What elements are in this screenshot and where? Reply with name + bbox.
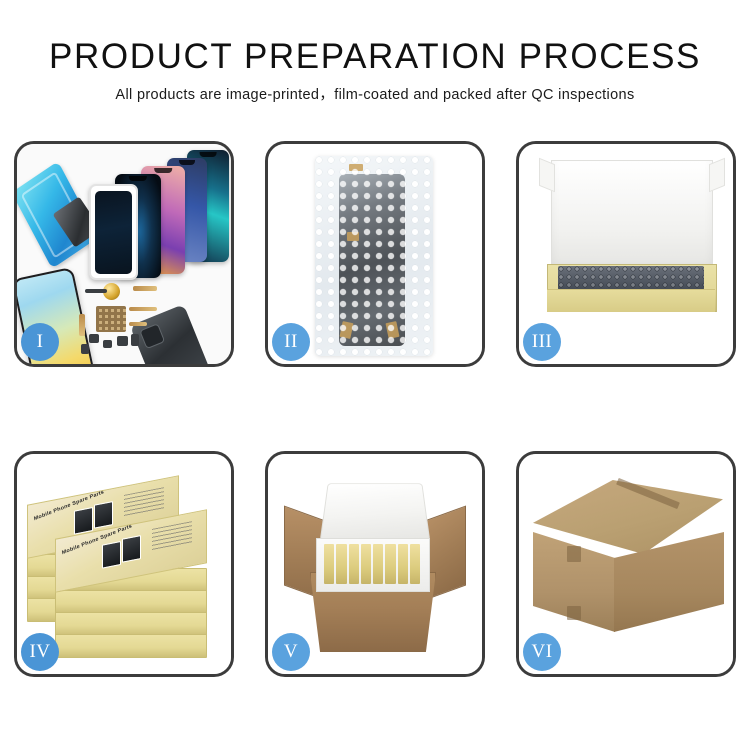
step-badge-3: III xyxy=(523,323,561,361)
step-panel-5[interactable]: V xyxy=(265,451,485,677)
yellow-boxes-group xyxy=(324,544,420,584)
process-steps-grid: I II III xyxy=(14,141,736,677)
box-lid-white xyxy=(551,160,713,274)
chip-part xyxy=(117,336,128,346)
screen-protector-glass xyxy=(89,184,138,280)
step-panel-6[interactable]: VI xyxy=(516,451,736,677)
notch-icon xyxy=(200,152,217,157)
styrofoam-lid xyxy=(320,483,431,541)
carton-tape-mark xyxy=(567,546,581,562)
foam-packing-dark xyxy=(558,266,704,290)
box-thumbnail xyxy=(102,541,121,569)
step-badge-4: IV xyxy=(21,633,59,671)
box-spec-lines xyxy=(152,521,192,551)
step-badge-6: VI xyxy=(523,633,561,671)
chip-part xyxy=(81,344,89,354)
yellow-box xyxy=(324,544,334,584)
notch-icon xyxy=(129,176,147,181)
stacked-box xyxy=(55,634,207,658)
stacked-box xyxy=(55,612,207,636)
tape-strip xyxy=(349,164,363,171)
page-title: PRODUCT PREPARATION PROCESS xyxy=(0,36,750,78)
box-spec-lines xyxy=(124,487,164,517)
flex-cable-part xyxy=(129,322,147,326)
step-badge-1: I xyxy=(21,323,59,361)
box-tray-front-wall xyxy=(547,289,715,312)
step-panel-3[interactable]: III xyxy=(516,141,736,367)
stacked-box xyxy=(55,590,207,614)
step-badge-5: V xyxy=(272,633,310,671)
chip-part xyxy=(103,340,112,348)
flex-cable-part xyxy=(129,307,157,311)
notch-icon xyxy=(179,160,195,165)
box-thumbnail xyxy=(74,507,93,535)
yellow-box xyxy=(385,544,395,584)
yellow-box xyxy=(336,544,346,584)
box-thumbnail xyxy=(122,535,141,563)
step-badge-2: II xyxy=(272,323,310,361)
phone-back-housing xyxy=(130,304,214,364)
box-thumbnail xyxy=(94,501,113,529)
bubble-wrap-bag xyxy=(315,156,433,356)
yellow-box xyxy=(361,544,371,584)
screws-tray-part xyxy=(96,306,126,332)
carton-tape-mark xyxy=(567,606,581,620)
yellow-box xyxy=(349,544,359,584)
tape-strip xyxy=(347,232,359,241)
page-subtitle: All products are image-printed，film-coat… xyxy=(0,85,750,105)
chip-part xyxy=(131,334,139,346)
product-preparation-infographic: PRODUCT PREPARATION PROCESS All products… xyxy=(0,0,750,750)
chip-part xyxy=(85,289,107,293)
flex-cable-part xyxy=(79,314,85,336)
step-panel-4[interactable]: Mobile Phone Spare Parts Mobile Phone Sp… xyxy=(14,451,234,677)
header: PRODUCT PREPARATION PROCESS All products… xyxy=(0,36,750,105)
box-stack: Mobile Phone Spare Parts Mobile Phone Sp… xyxy=(27,476,225,666)
yellow-box xyxy=(398,544,408,584)
notch-icon xyxy=(154,168,172,173)
yellow-box xyxy=(373,544,383,584)
step-panel-2[interactable]: II xyxy=(265,141,485,367)
yellow-box xyxy=(410,544,420,584)
flex-cable-part xyxy=(133,286,157,291)
chip-part xyxy=(89,334,99,343)
step-panel-1[interactable]: I xyxy=(14,141,234,367)
